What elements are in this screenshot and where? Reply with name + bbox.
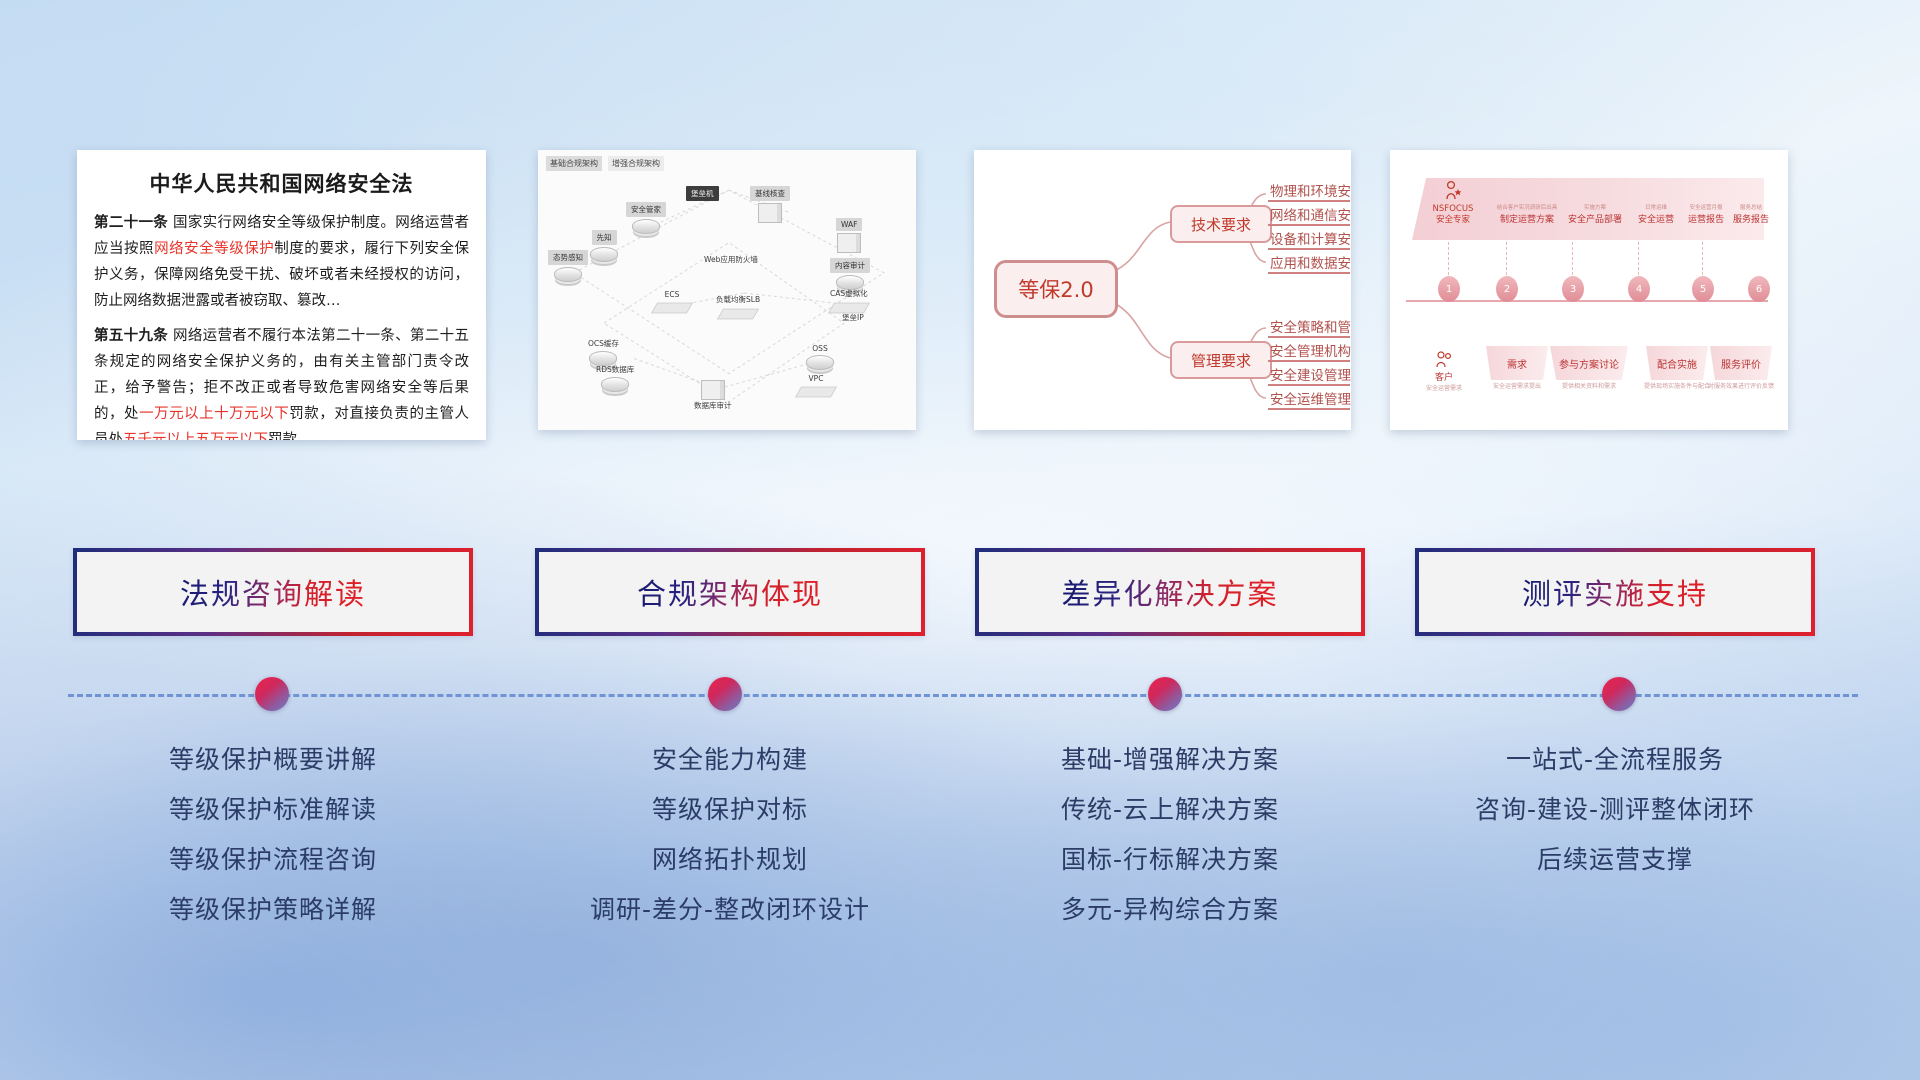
architecture-card: 基础合规架构 增强合规架构 安全管家 先知 xyxy=(538,150,916,430)
nsfocus-step-sub-3: 日常运维 xyxy=(1630,202,1682,214)
arch-node-rds: RDS数据库 xyxy=(596,364,634,392)
nsfocus-customer-title: 客户 xyxy=(1414,372,1474,384)
mindmap-card: 等保2.0 技术要求 管理要求 物理和环境安全 网络和通信安全 设备和计算安全 … xyxy=(974,150,1351,430)
section-heading-4[interactable]: 测评实施支持 xyxy=(1415,548,1815,636)
arch-node-slb: 负载均衡SLB xyxy=(716,294,760,320)
mindmap-leaf-m2: 安全管理机构和人员 xyxy=(1270,340,1351,360)
arch-node-baoleiji: 堡垒机 xyxy=(686,186,719,201)
detail-item-2-2: 等级保护对标 xyxy=(535,785,925,835)
arch-node-waf: WAF xyxy=(836,218,862,253)
timeline-dot-2[interactable] xyxy=(708,677,742,711)
law-article-59-highlight-2: 五千元以上五万元以下 xyxy=(123,432,268,440)
mindmap-leaf-m1: 安全策略和管理制度 xyxy=(1270,316,1351,336)
arch-node-oss: OSS xyxy=(806,344,834,370)
nsfocus-logo-line1: NSFOCUS xyxy=(1420,204,1486,215)
law-article-59-text-b: 罚款。 xyxy=(268,432,312,440)
architecture-tab-enhanced[interactable]: 增强合规架构 xyxy=(608,156,664,171)
detail-item-3-4: 多元-异构综合方案 xyxy=(975,885,1365,935)
mindmap-leaf-m3: 安全建设管理 xyxy=(1270,364,1351,384)
nsfocus-bottom-item-1: 需求 xyxy=(1486,346,1548,380)
law-article-59-highlight-1: 一万元以上十万元以下 xyxy=(139,406,289,422)
nsfocus-customer-block: 客户 安全运营需求 xyxy=(1414,350,1474,393)
architecture-tabs: 基础合规架构 增强合规架构 xyxy=(546,156,664,171)
law-card: 中华人民共和国网络安全法 第二十一条 国家实行网络安全等级保护制度。网络运营者应… xyxy=(77,150,486,440)
media-card-row: 中华人民共和国网络安全法 第二十一条 国家实行网络安全等级保护制度。网络运营者应… xyxy=(0,150,1920,440)
law-card-title: 中华人民共和国网络安全法 xyxy=(94,168,469,198)
arch-node-ecs: ECS xyxy=(654,290,690,314)
section-heading-row: 法规咨询解读 合规架构体现 差异化解决方案 测评实施支持 xyxy=(0,548,1920,636)
nsfocus-step-label-5: 服务总结 服务报告 xyxy=(1728,202,1774,226)
nsfocus-step-sub-5: 服务总结 xyxy=(1728,202,1774,214)
law-article-21-number: 第二十一条 xyxy=(94,215,168,231)
detail-column-2: 安全能力构建 等级保护对标 网络拓扑规划 调研-差分-整改闭环设计 xyxy=(535,735,925,935)
architecture-canvas: 安全管家 先知 态势感知 堡垒机 基线核查 WAF 内容审计 Web应用防火墙 … xyxy=(544,172,910,424)
mindmap-leaf-rule-m3 xyxy=(1268,384,1350,386)
detail-item-2-1: 安全能力构建 xyxy=(535,735,925,785)
nsfocus-step-title-1: 制定运营方案 xyxy=(1500,215,1554,225)
detail-item-1-4: 等级保护策略详解 xyxy=(73,885,473,935)
arch-node-baoleiip: 堡垒IP xyxy=(842,312,864,323)
mindmap-leaf-rule-m4 xyxy=(1268,408,1350,410)
nsfocus-card: NSFOCUS 安全专家 结合客户实况调研后出具 制定运营方案 实施方案 安全产… xyxy=(1390,150,1788,430)
section-heading-3[interactable]: 差异化解决方案 xyxy=(975,548,1365,636)
mindmap-leaf-rule-t4 xyxy=(1268,272,1350,274)
nsfocus-bottom-sub-1: 安全运营需求提出 xyxy=(1486,382,1548,391)
nsfocus-step-title-3: 安全运营 xyxy=(1638,215,1674,225)
nsfocus-step-title-2: 安全产品部署 xyxy=(1568,215,1622,225)
architecture-tab-basic[interactable]: 基础合规架构 xyxy=(546,156,602,171)
nsfocus-step-sub-1: 结合客户实况调研后出具 xyxy=(1494,202,1560,214)
nsfocus-bottom-item-2: 参与方案讨论 xyxy=(1550,346,1628,380)
nsfocus-step-title-4: 运营报告 xyxy=(1688,215,1724,225)
arch-node-anquanguanjia: 安全管家 xyxy=(626,202,666,234)
nsfocus-bottom-sub-3: 提供现场实施条件与配合 xyxy=(1640,382,1714,391)
nsfocus-timeline: NSFOCUS 安全专家 结合客户实况调研后出具 制定运营方案 实施方案 安全产… xyxy=(1390,150,1788,430)
mindmap-branch-technical[interactable]: 技术要求 xyxy=(1170,205,1272,243)
mindmap-leaf-rule-t3 xyxy=(1268,248,1350,250)
arch-node-jixianhecha: 基线核查 xyxy=(750,186,790,223)
nsfocus-step-sub-2: 实施方案 xyxy=(1562,202,1628,214)
detail-item-3-1: 基础-增强解决方案 xyxy=(975,735,1365,785)
nsfocus-step-dot-2: 2 xyxy=(1496,276,1518,302)
nsfocus-step-label-2: 实施方案 安全产品部署 xyxy=(1562,202,1628,226)
arch-node-xianzhi: 先知 xyxy=(590,230,618,262)
nsfocus-bottom-item-3: 配合实施 xyxy=(1646,346,1708,380)
section-heading-2-label: 合规架构体现 xyxy=(637,571,823,613)
mindmap-leaf-m4: 安全运维管理 xyxy=(1270,388,1351,408)
timeline-dot-4[interactable] xyxy=(1602,677,1636,711)
detail-item-4-3: 后续运营支撑 xyxy=(1415,835,1815,885)
timeline-row xyxy=(0,660,1920,720)
law-article-21: 第二十一条 国家实行网络安全等级保护制度。网络运营者应当按照网络安全等级保护制度… xyxy=(94,210,469,314)
arch-node-dbaudit: 数据库审计 xyxy=(694,378,732,411)
mindmap-leaf-rule-t1 xyxy=(1268,200,1350,202)
nsfocus-axis xyxy=(1406,300,1768,302)
nsfocus-step-label-3: 日常运维 安全运营 xyxy=(1630,202,1682,226)
timeline-dashed-line xyxy=(68,694,1858,697)
detail-item-1-3: 等级保护流程咨询 xyxy=(73,835,473,885)
section-heading-1-label: 法规咨询解读 xyxy=(180,571,366,613)
arch-node-vpc: VPC xyxy=(798,374,834,398)
nsfocus-step-title-5: 服务报告 xyxy=(1733,215,1769,225)
section-heading-3-label: 差异化解决方案 xyxy=(1061,571,1278,613)
detail-columns: 等级保护概要讲解 等级保护标准解读 等级保护流程咨询 等级保护策略详解 安全能力… xyxy=(0,735,1920,965)
architecture-diagram: 基础合规架构 增强合规架构 安全管家 先知 xyxy=(538,150,916,430)
detail-column-3: 基础-增强解决方案 传统-云上解决方案 国标-行标解决方案 多元-异构综合方案 xyxy=(975,735,1365,935)
nsfocus-step-label-1: 结合客户实况调研后出具 制定运营方案 xyxy=(1494,202,1560,226)
mindmap-leaf-rule-m1 xyxy=(1268,336,1350,338)
arch-node-neirongshenji: 内容审计 xyxy=(830,258,870,290)
detail-item-3-3: 国标-行标解决方案 xyxy=(975,835,1365,885)
nsfocus-expert-block: NSFOCUS 安全专家 xyxy=(1420,180,1486,226)
arch-node-taishiganzhi: 态势感知 xyxy=(548,250,588,282)
arch-node-ocs: OCS缓存 xyxy=(588,338,619,366)
arch-node-cas: CAS虚拟化 xyxy=(830,288,868,314)
nsfocus-logo-line2: 安全专家 xyxy=(1420,215,1486,226)
mindmap-leaf-rule-t2 xyxy=(1268,224,1350,226)
customer-icon xyxy=(1434,350,1454,368)
nsfocus-step-dot-5: 5 xyxy=(1692,276,1714,302)
mindmap: 等保2.0 技术要求 管理要求 物理和环境安全 网络和通信安全 设备和计算安全 … xyxy=(974,150,1351,430)
detail-column-1: 等级保护概要讲解 等级保护标准解读 等级保护流程咨询 等级保护策略详解 xyxy=(73,735,473,935)
detail-item-4-2: 咨询-建设-测评整体闭环 xyxy=(1415,785,1815,835)
nsfocus-customer-sub: 安全运营需求 xyxy=(1414,384,1474,393)
nsfocus-step-dot-1: 1 xyxy=(1438,276,1460,302)
detail-item-4-1: 一站式-全流程服务 xyxy=(1415,735,1815,785)
section-heading-2[interactable]: 合规架构体现 xyxy=(535,548,925,636)
nsfocus-step-dot-6: 6 xyxy=(1748,276,1770,302)
mindmap-leaf-t4: 应用和数据安全 xyxy=(1270,252,1351,272)
detail-item-2-3: 网络拓扑规划 xyxy=(535,835,925,885)
nsfocus-step-dot-3: 3 xyxy=(1562,276,1584,302)
mindmap-branch-management[interactable]: 管理要求 xyxy=(1170,341,1272,379)
timeline-dot-1[interactable] xyxy=(255,677,289,711)
nsfocus-step-dot-4: 4 xyxy=(1628,276,1650,302)
law-article-59-number: 第五十九条 xyxy=(94,328,168,344)
detail-item-2-4: 调研-差分-整改闭环设计 xyxy=(535,885,925,935)
nsfocus-step-label-4: 安全运营月报 运营报告 xyxy=(1682,202,1730,226)
detail-item-1-1: 等级保护概要讲解 xyxy=(73,735,473,785)
person-icon xyxy=(1442,180,1464,200)
section-heading-4-label: 测评实施支持 xyxy=(1522,571,1708,613)
nsfocus-bottom-sub-2: 提供相关资料和需求 xyxy=(1546,382,1632,391)
mindmap-leaf-t1: 物理和环境安全 xyxy=(1270,180,1351,200)
law-article-21-highlight: 网络安全等级保护 xyxy=(154,241,274,257)
law-article-59: 第五十九条 网络运营者不履行本法第二十一条、第二十五条规定的网络安全保护义务的，… xyxy=(94,323,469,440)
nsfocus-bottom-item-4: 服务评价 xyxy=(1710,346,1772,380)
detail-item-1-2: 等级保护标准解读 xyxy=(73,785,473,835)
timeline-dot-3[interactable] xyxy=(1148,677,1182,711)
detail-item-3-2: 传统-云上解决方案 xyxy=(975,785,1365,835)
arch-node-web-waf: Web应用防火墙 xyxy=(704,254,758,265)
mindmap-leaf-t2: 网络和通信安全 xyxy=(1270,204,1351,224)
mindmap-root-node[interactable]: 等保2.0 xyxy=(994,260,1118,318)
mindmap-leaf-t3: 设备和计算安全 xyxy=(1270,228,1351,248)
slide-root: 中华人民共和国网络安全法 第二十一条 国家实行网络安全等级保护制度。网络运营者应… xyxy=(0,0,1920,1080)
nsfocus-step-sub-4: 安全运营月报 xyxy=(1682,202,1730,214)
mindmap-leaf-rule-m2 xyxy=(1268,360,1350,362)
nsfocus-bottom-sub-4: 对服务效果进行评价反馈 xyxy=(1704,382,1778,391)
law-card-body: 中华人民共和国网络安全法 第二十一条 国家实行网络安全等级保护制度。网络运营者应… xyxy=(77,150,486,440)
section-heading-1[interactable]: 法规咨询解读 xyxy=(73,548,473,636)
detail-column-4: 一站式-全流程服务 咨询-建设-测评整体闭环 后续运营支撑 xyxy=(1415,735,1815,885)
